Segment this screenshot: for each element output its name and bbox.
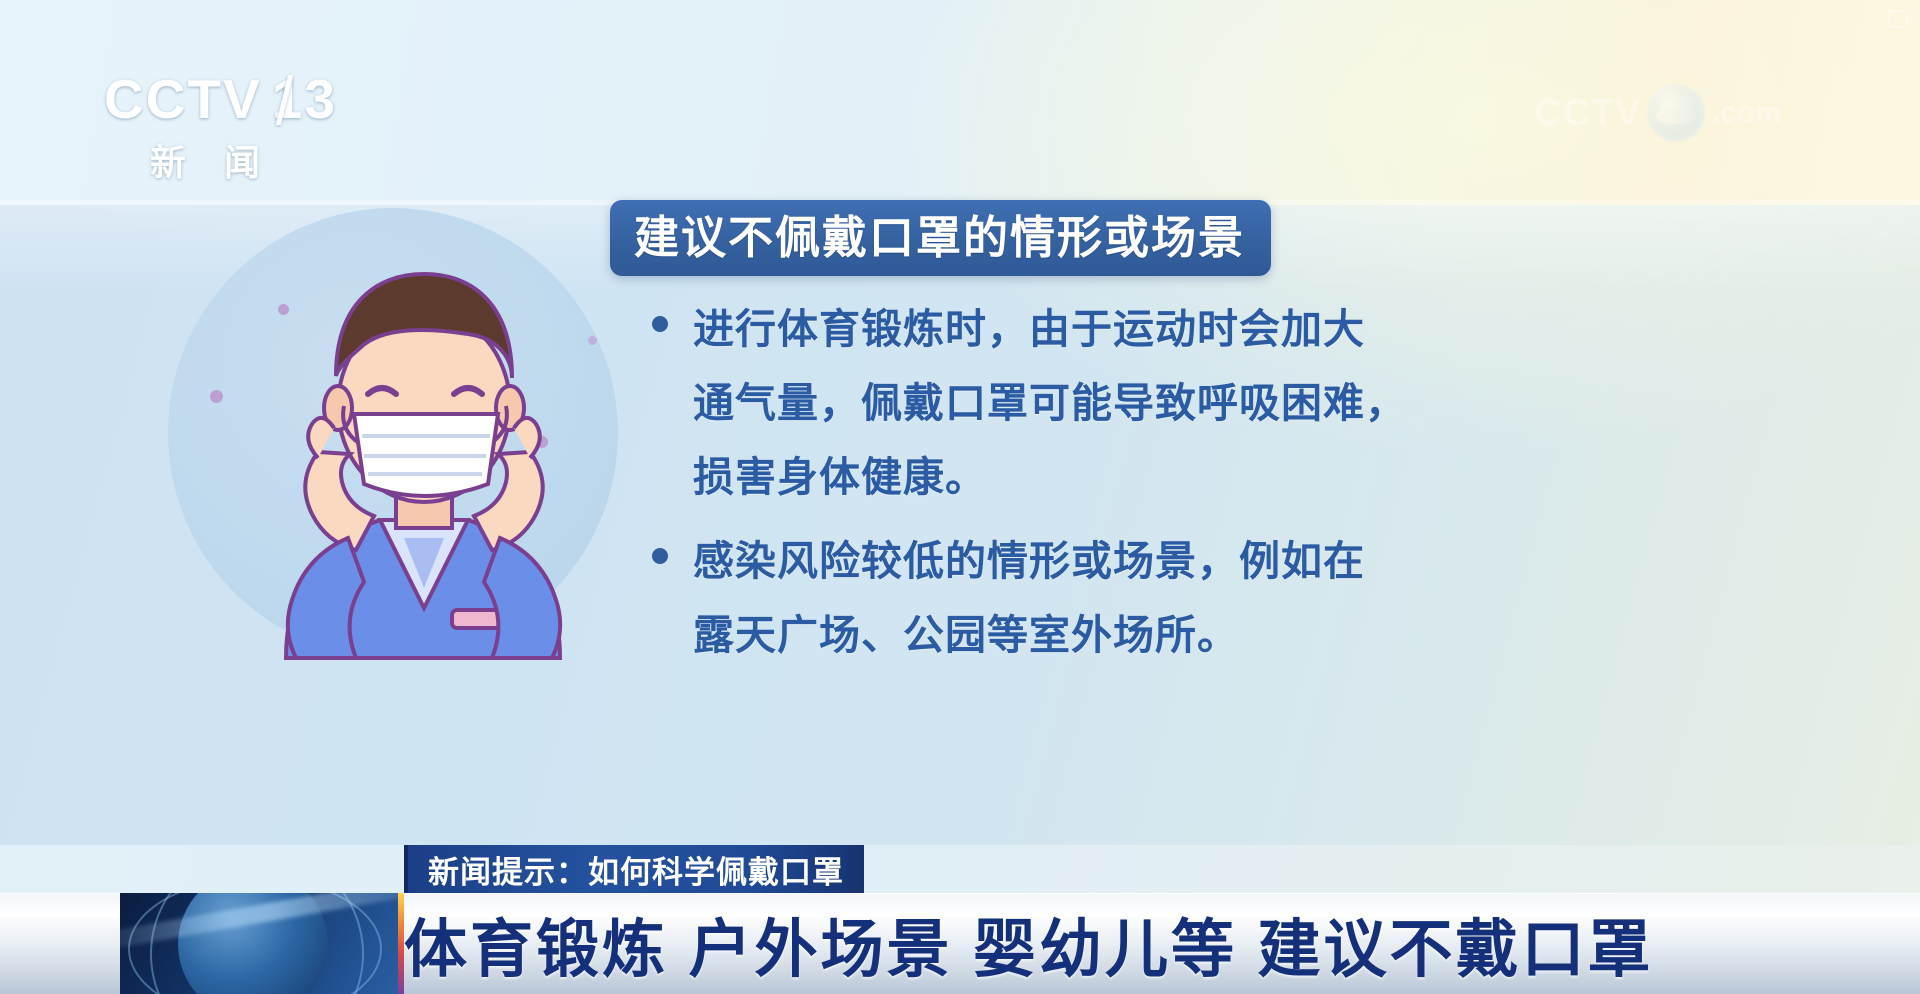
bullet-line: 感染风险较低的情形或场景，例如在 <box>693 524 1365 598</box>
bullet-dot-icon <box>652 548 668 564</box>
bullet-text: 进行体育锻炼时，由于运动时会加大 通气量，佩戴口罩可能导致呼吸困难， 损害身体健… <box>693 292 1407 514</box>
corner-marker-icon <box>1888 10 1908 28</box>
watermark-text: CCTV <box>1534 92 1641 135</box>
list-item: 感染风险较低的情形或场景，例如在 露天广场、公园等室外场所。 <box>652 524 1852 672</box>
news-globe-graphic <box>120 893 400 994</box>
headline-text: 体育锻炼 户外场景 婴幼儿等 建议不戴口罩 <box>404 897 1884 991</box>
bullet-line: 通气量，佩戴口罩可能导致呼吸困难， <box>693 366 1407 440</box>
bullet-text: 感染风险较低的情形或场景，例如在 露天广场、公园等室外场所。 <box>693 524 1365 672</box>
bullet-dot-icon <box>652 316 668 332</box>
bullet-line: 损害身体健康。 <box>693 440 1407 514</box>
logo-subtitle: 新 闻 <box>150 134 334 186</box>
list-item: 进行体育锻炼时，由于运动时会加大 通气量，佩戴口罩可能导致呼吸困难， 损害身体健… <box>652 292 1852 514</box>
kicker-text: 新闻提示：如何科学佩戴口罩 <box>428 847 844 892</box>
graphic-bullet-list: 进行体育锻炼时，由于运动时会加大 通气量，佩戴口罩可能导致呼吸困难， 损害身体健… <box>652 292 1852 682</box>
lower-third: 新闻提示：如何科学佩戴口罩 体育锻炼 户外场景 婴幼儿等 建议不戴口罩 <box>0 845 1920 994</box>
watermark-globe-icon <box>1647 84 1705 142</box>
cctv-com-watermark: CCTV .com <box>1534 78 1824 148</box>
cctv13-logo: CCTV 13 新 闻 <box>104 70 334 180</box>
graphic-heading-text: 建议不佩戴口罩的情形或场景 <box>634 213 1245 263</box>
logo-cctv-text: CCTV <box>104 70 262 128</box>
bullet-line: 进行体育锻炼时，由于运动时会加大 <box>693 292 1407 366</box>
person-putting-on-mask-icon <box>168 208 638 678</box>
logo-row: CCTV 13 <box>104 70 334 128</box>
tv-broadcast-frame: CCTV 13 新 闻 CCTV .com <box>0 0 1920 994</box>
watermark-suffix: .com <box>1711 96 1781 130</box>
kicker-banner: 新闻提示：如何科学佩戴口罩 <box>404 845 864 893</box>
bullet-line: 露天广场、公园等室外场所。 <box>693 598 1365 672</box>
illustration-container <box>168 208 638 678</box>
graphic-heading-banner: 建议不佩戴口罩的情形或场景 <box>610 200 1271 276</box>
